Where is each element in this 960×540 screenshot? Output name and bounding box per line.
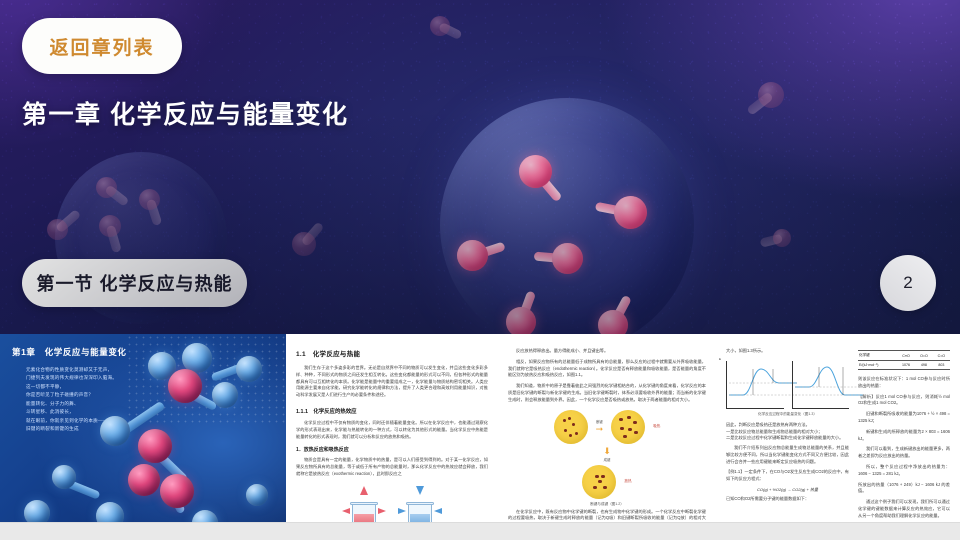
page4-sol-4: 我们可以看到，生成新键放出的能量更多，两者之差即为反应放出的热量。 [858, 446, 950, 460]
atom-dim-1 [96, 177, 117, 198]
cover-molecule-6 [100, 416, 130, 446]
cover-molecule-5 [212, 382, 238, 408]
cover-molecule-10 [52, 465, 76, 489]
back-button-label: 返回章列表 [49, 33, 154, 60]
td-0: 1076 [897, 361, 915, 370]
atoms-circle [611, 410, 645, 444]
energy-curve-1 [727, 361, 801, 409]
energy-curve-2 [793, 361, 867, 409]
bond-icon [301, 221, 325, 247]
atom-ball [139, 189, 160, 210]
step2-annotation: ⬇ 成键 [532, 447, 682, 462]
page4-para-1: 因此，判断反应是吸热还是放热有两种方法。 [726, 422, 849, 429]
cover-title: 第1章 化学反应与能量变化 [12, 346, 127, 358]
textbook-page-3[interactable]: 反应放热得释放出。量方得能成小、并且键出等。 相反，如果反应物所有的总能量低于成… [498, 334, 716, 540]
energy-chart-endothermic [792, 361, 850, 409]
page2-subheading-2: 1．放热反应和吸热反应 [296, 446, 488, 453]
bond-icon [517, 290, 536, 323]
page2-heading: 1.1 化学反应与热能 [296, 348, 488, 358]
cover-molecule-4 [168, 369, 202, 403]
page4-figure-caption: 化学反应过程中的能量变化（图1.3） [726, 412, 849, 417]
cover-molecule-14 [246, 484, 268, 506]
textbook-page-4[interactable]: 大小，如图1.3所示。 E [716, 334, 960, 540]
cover-molecule-3 [236, 356, 262, 382]
page-number: 2 [903, 273, 912, 293]
textbook-page-strip[interactable]: 第1章 化学反应与能量变化 元素化合物的性质变化莫测却又于无声， 门捷列夫发现的… [0, 334, 960, 540]
page4-sol-2: 旧键和断裂所吸收的能量为1076 + ½ × 498 = 1325 kJ； [858, 411, 950, 425]
page4-sol-7: 通过这个例子我们可以发现，我们所可以通过化学键的键能数据来计算反应的热效应，它可… [858, 499, 950, 519]
atom-ball [506, 307, 536, 334]
atom-bright-1 [519, 155, 552, 188]
energy-chart-exothermic: E [726, 361, 784, 409]
page4-example-note: 已知CO和O2所需要分子键的能量数据如下： [726, 496, 849, 503]
arrow-down-icon [416, 486, 424, 495]
atom-bright-2 [614, 196, 647, 229]
page4-sol-1: 【解析】反应1 mol CO参与反应，则消耗½ mol O2和生成1 mol C… [858, 394, 950, 408]
cover-molecule-13 [192, 510, 218, 522]
atom-ball [552, 243, 583, 274]
atom-ball [430, 16, 450, 36]
hero-banner: 返回章列表 第一章 化学反应与能量变化 第一节 化学反应与热能 2 [0, 0, 960, 334]
atom-ball [292, 232, 316, 256]
step2-label: 成键 [604, 457, 611, 462]
page4-para-0: 大小，如图1.3所示。 [726, 348, 849, 355]
bond-icon [594, 201, 631, 217]
table-row: E/(kJ·mol⁻¹) 1076 498 803 [858, 361, 950, 370]
beaker-rim [350, 502, 378, 505]
molecule-sphere-left [55, 152, 227, 324]
atom-float-4 [430, 16, 450, 36]
ydia-row-2: 放热 [532, 465, 682, 499]
bond-icon [104, 184, 129, 206]
page4-sol-5: 所以，整个反应过程中净放出的热量为：1606 − 1325 = 281 kJ。 [858, 464, 950, 478]
bond-icon [471, 241, 505, 260]
arrow-in-right-icon [434, 508, 442, 514]
page-number-badge: 2 [880, 255, 936, 311]
atom-ball [598, 310, 628, 334]
page2-para-4: 物质会是具有一定的能量，化学物质中的热量，是可以人们感受到得到的。对于某一化学反… [296, 457, 488, 477]
th-0: 化学键 [858, 351, 897, 361]
table-header-row: 化学键 C≡O O=O C=O [858, 351, 950, 361]
arrow-right-icon [378, 508, 386, 514]
atom-ball [773, 229, 791, 247]
page2-para-2: 化学反应过程中不仅有物质的变化，同时还伴随着能量变化。所以在化学反应中，也能通过… [296, 420, 488, 440]
atom-ball [96, 177, 117, 198]
chapter-title: 第一章 化学反应与能量变化 [22, 95, 348, 131]
arrow-right-icon: ➞ [596, 425, 604, 434]
bond-icon [55, 208, 81, 233]
arrow-down-icon: ⬇ [603, 447, 611, 456]
atom-dim-2 [139, 189, 160, 210]
bond-breaking-figure: 断键 ➞ 吸热 ⬇ 成键 [532, 410, 682, 507]
atom-dim-4 [99, 215, 121, 237]
page4-sol-6: 所放出的热量（1076 + 249）kJ − 1606 kJ 的差值。 [858, 482, 950, 496]
section-label-pill[interactable]: 第一节 化学反应与热能 [22, 259, 247, 307]
bond-icon [145, 198, 162, 226]
ydia-row-1: 断键 ➞ 吸热 [532, 410, 682, 444]
textbook-page-2[interactable]: 1.1 化学反应与热能 我们生存于这个多姿多彩的世界。无论是自然界中不同的物质可… [286, 334, 498, 540]
atom-bright-6 [598, 310, 628, 334]
arrow-up-icon [360, 486, 368, 495]
atom-dim-3 [47, 219, 68, 240]
th-1: C≡O [897, 351, 915, 361]
product-circle [582, 465, 616, 499]
bond-icon [438, 22, 463, 40]
page4-sol-3: 新键和生成的所释放的能量为2 × 803 = 1606 kJ。 [858, 429, 950, 443]
page4-equation: CO(g) + ½O2(g) → CO2(g) + 热量 [726, 487, 849, 493]
page2-para-0: 我们生存于这个多姿多彩的世界。无论是自然界中不同的物质可以发生变化，并且这些变化… [296, 365, 488, 399]
atom-ball [47, 219, 68, 240]
cover-molecule-11 [24, 500, 50, 522]
atom-bright-5 [506, 307, 536, 334]
th-3: C=O [933, 351, 950, 361]
textbook-page-cover[interactable]: 第1章 化学反应与能量变化 元素化合物的性质变化莫测却又于无声， 门捷列夫发现的… [0, 334, 286, 522]
cover-molecule-7 [138, 429, 172, 463]
bond-icon [760, 234, 784, 248]
hero-noise-overlay [0, 0, 960, 334]
page4-para-4: 我们不介绍系列出反应物总能量生成物总能量的关系，并且能够比较方便不同，所以当化学… [726, 445, 849, 465]
page3-para-1: 相反，如果反应物所有的总能量低于成物所具有的总能量，那么反应的过程中就需要从外界… [508, 359, 706, 379]
step2-state-label: 放热 [624, 479, 631, 484]
beaker-rim [406, 502, 434, 505]
page4-para-3: 二是比较反应过程中化学键断裂和生成化学键释放能量的大小。 [726, 435, 849, 442]
page2-subheading: 1.1.1 化学反应的热效应 [296, 407, 488, 415]
cover-molecule-8 [128, 464, 160, 496]
energy-diagram-figure: E [726, 361, 849, 409]
page4-left-column: 大小，如图1.3所示。 E [726, 348, 849, 540]
step1-annotation: 断键 ➞ [596, 419, 604, 434]
page3-figure-caption: 断键与成键（图1.2） [532, 502, 682, 507]
atom-bright-3 [457, 240, 488, 271]
reactant-circle [554, 410, 588, 444]
page3-para-2: 我们知道，物质中的原子是靠着彼此之间强烈的化学键相结合的，从化学键的角度来看，化… [508, 383, 706, 403]
td-1: 498 [915, 361, 933, 370]
bond-icon [106, 225, 122, 253]
atom-float-1 [292, 232, 316, 256]
page4-sol-0: 则该反应在标准状况下：1 mol CO参与反应时所放出的热量： [858, 376, 950, 390]
bond-icon [532, 169, 562, 202]
slide-viewer: 返回章列表 第一章 化学反应与能量变化 第一节 化学反应与热能 2 第1章 化学… [0, 0, 960, 540]
arrow-in-left-icon [398, 508, 406, 514]
bond-icon [746, 91, 774, 115]
step1-state-label: 吸热 [653, 424, 660, 429]
cover-molecule-9 [160, 474, 194, 508]
section-label: 第一节 化学反应与热能 [37, 270, 233, 296]
atom-ball [614, 196, 647, 229]
back-to-chapter-list-button[interactable]: 返回章列表 [22, 18, 182, 74]
cover-molecule-12 [96, 502, 124, 522]
page4-method-list: 因此，判断反应是吸热还是放热有两种方法。 一是比较反应物总能量和生成物总能量的相… [726, 422, 849, 442]
atom-float-3 [773, 229, 791, 247]
page3-para-0: 反应放热得释放出。量方得能成小、并且键出等。 [508, 348, 706, 355]
molecule-sphere-main [440, 98, 694, 334]
page4-example-title: 【例1.1】一定条件下，在CO与O2发生反应生成CO2的反应中，有如下的反应方程… [726, 469, 849, 483]
page4-right-column: 化学键 C≡O O=O C=O E/(kJ·mol⁻¹) 1076 498 80… [858, 348, 950, 540]
td-2: 803 [933, 361, 950, 370]
atom-ball [99, 215, 121, 237]
atom-float-2 [758, 82, 784, 108]
atom-ball [758, 82, 784, 108]
atom-bright-4 [552, 243, 583, 274]
bond-icon [609, 295, 632, 327]
atom-ball [457, 240, 488, 271]
bond-energy-table: 化学键 C≡O O=O C=O E/(kJ·mol⁻¹) 1076 498 80… [858, 350, 950, 370]
th-2: O=O [915, 351, 933, 361]
document-footer-bar [0, 522, 960, 540]
axis-label-y: E [719, 357, 721, 361]
atom-ball [519, 155, 552, 188]
bond-icon [533, 251, 568, 263]
arrow-left-icon [342, 508, 350, 514]
